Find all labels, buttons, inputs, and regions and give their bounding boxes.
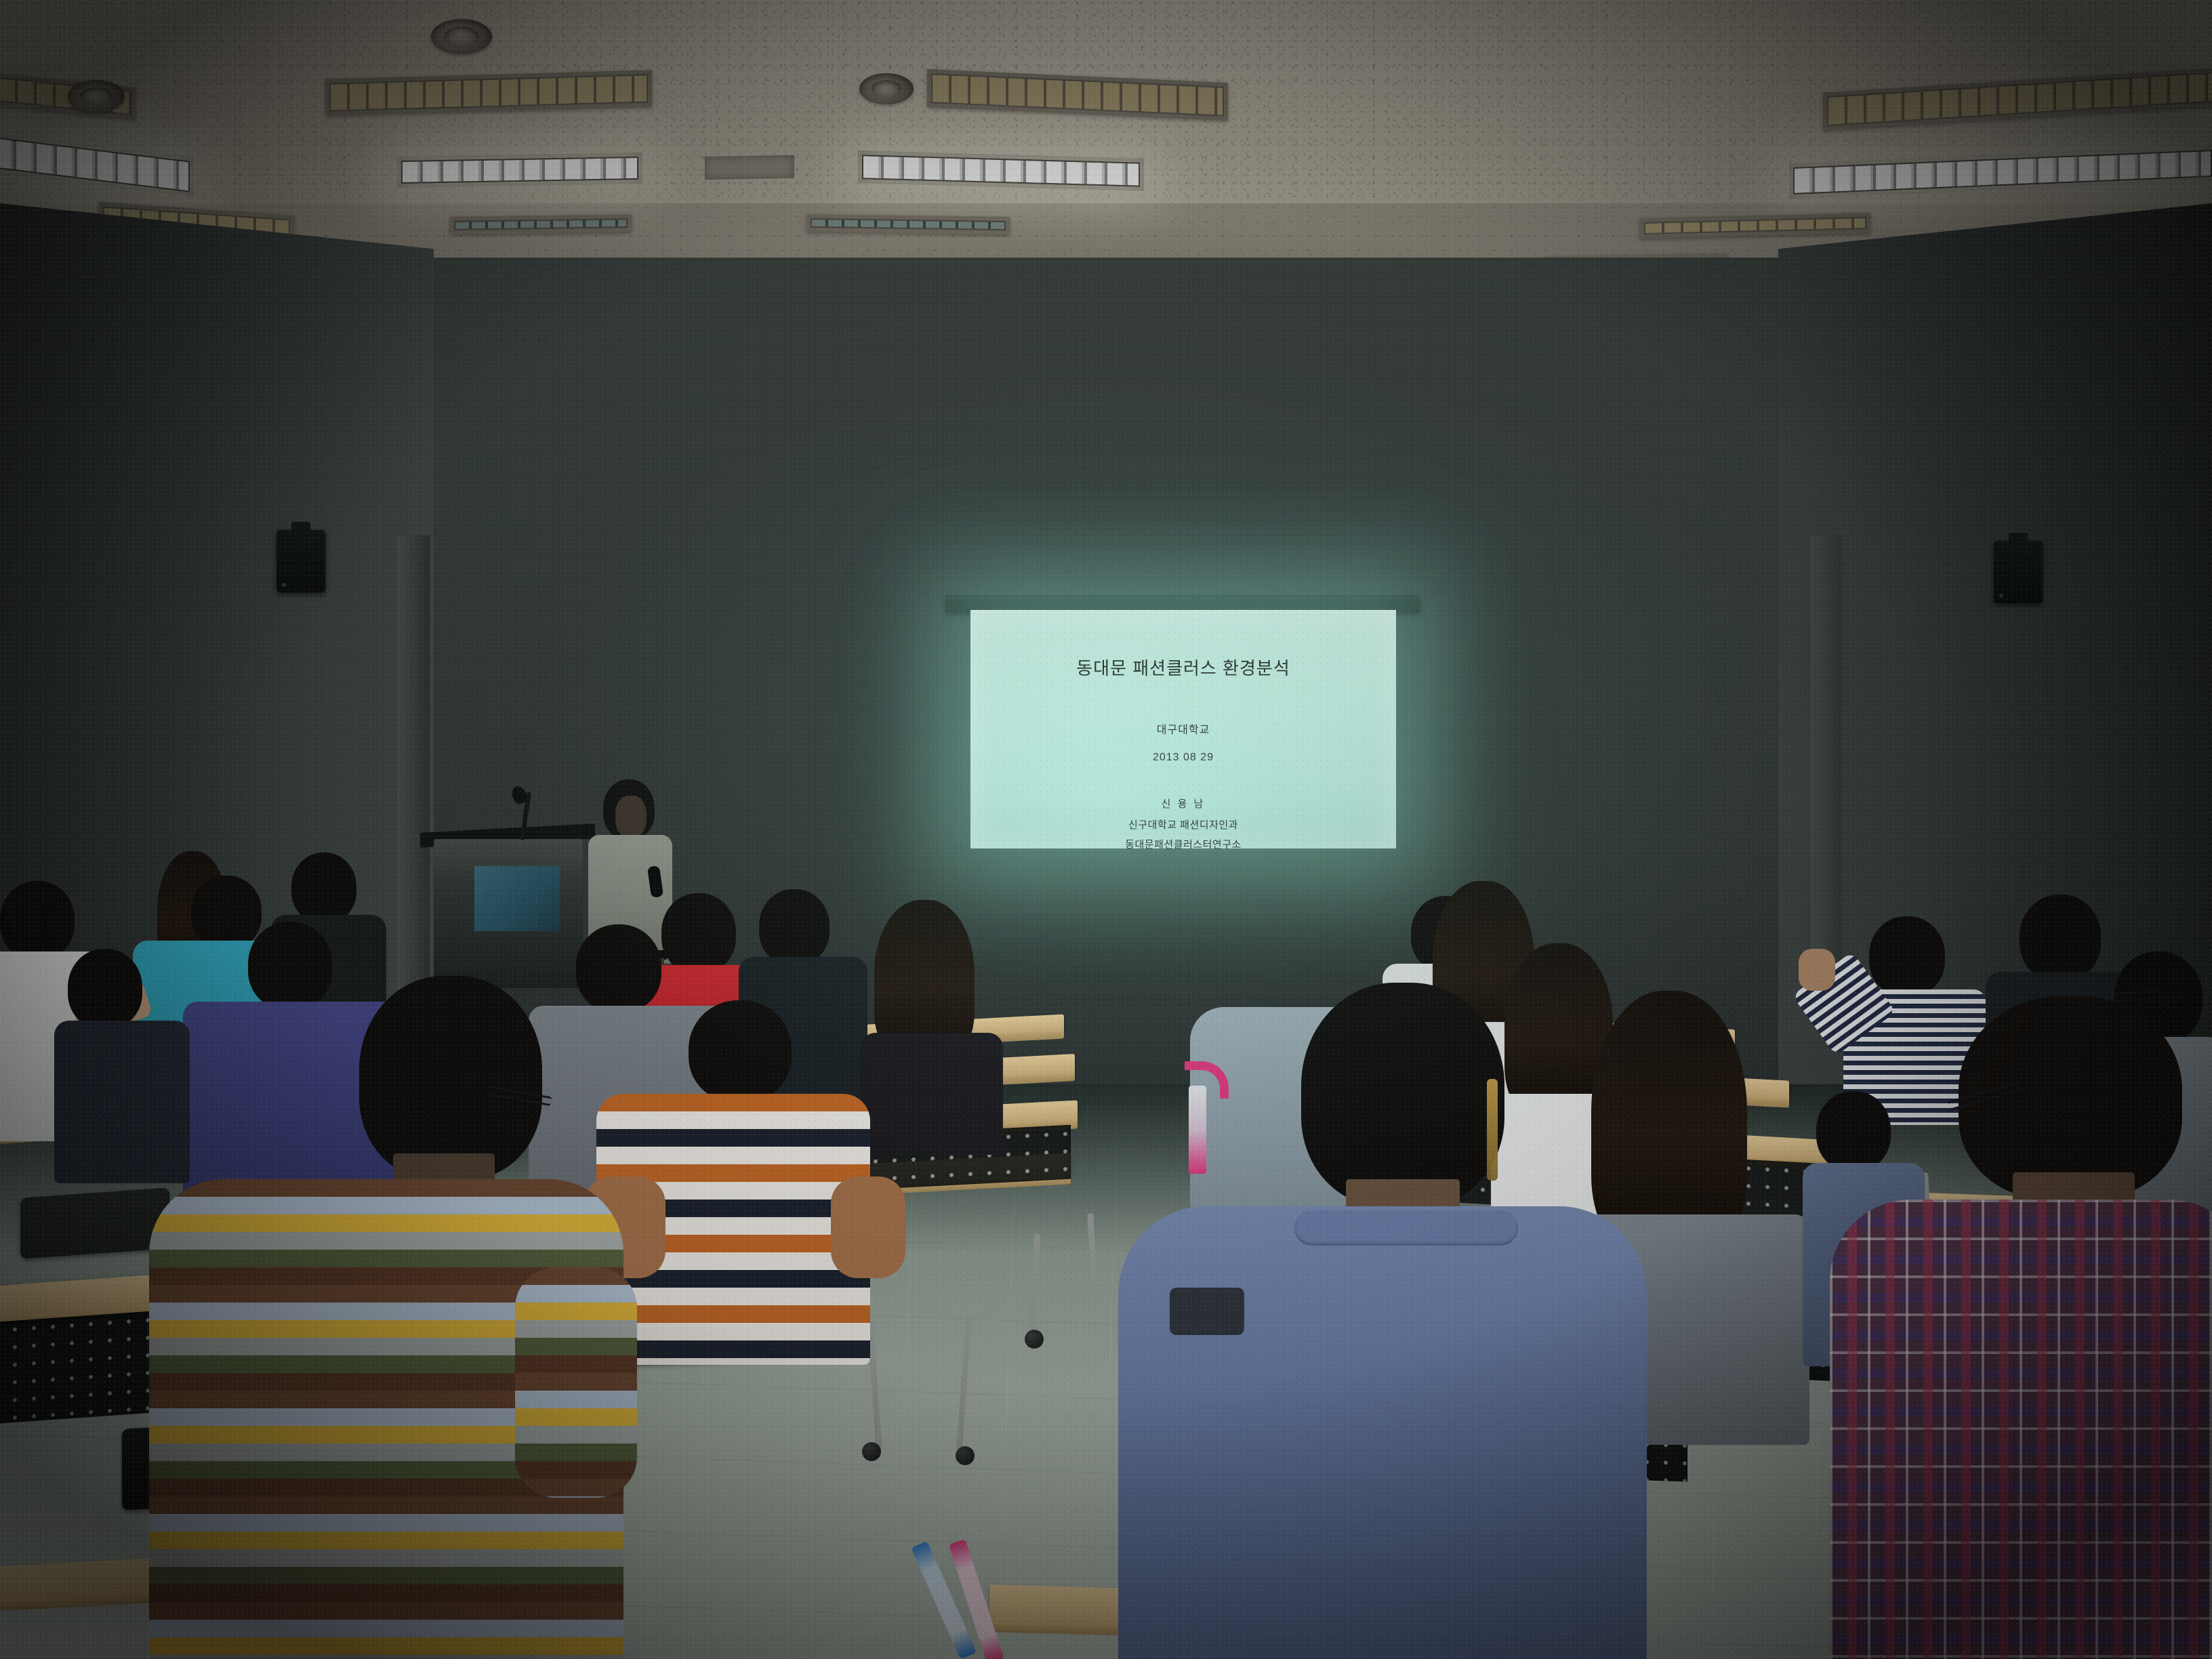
wall-pillar-left (397, 535, 430, 1023)
wall-speaker-right (1994, 541, 2043, 603)
slide-title: 동대문 패션클러스 환경분석 (1076, 655, 1290, 680)
polo-collar (1294, 1210, 1518, 1246)
ceiling-vent-center (431, 19, 492, 54)
bag-strap-right (1487, 1079, 1498, 1181)
desk-caster-1 (956, 1446, 975, 1465)
wall-speaker-left (276, 530, 325, 592)
desk-caster-3 (1025, 1330, 1044, 1349)
speaker-led-icon (282, 583, 286, 587)
troffer-center-3 (450, 214, 632, 234)
slide-organization: 대구대학교 (1157, 720, 1210, 737)
raised-hand (1799, 949, 1835, 991)
slide-presenter-name: 신 용 남 (1162, 796, 1206, 811)
slide-affiliation-line1: 신구대학교 패션디자인과 (1128, 817, 1238, 832)
chair-far-left (20, 1187, 169, 1258)
wall-pillar-right (1811, 535, 1842, 1010)
lecture-hall-scene: 동대문 패션클러스 환경분석 대구대학교 2013 08 29 신 용 남 신구… (0, 0, 2212, 1659)
troffer-center-2 (397, 152, 642, 188)
speaker-led-icon (1999, 594, 2003, 598)
ceiling-access-panel-right (705, 155, 794, 180)
umbrella-hanging (1189, 1086, 1206, 1174)
presenter-face (615, 796, 647, 838)
slide-affiliation-line2: 동대문패션클러스터연구소 (1125, 837, 1242, 851)
lectern-monitor (474, 866, 560, 931)
bag-on-floor-center (1170, 1288, 1244, 1335)
desk-caster-2 (862, 1442, 881, 1461)
troffer-right-3 (806, 214, 1010, 234)
ceiling-vent-right (859, 73, 914, 104)
slide-date: 2013 08 29 (1153, 752, 1214, 764)
projection-screen: 동대문 패션클러스 환경분석 대구대학교 2013 08 29 신 용 남 신구… (970, 610, 1396, 848)
ceiling-vent-left (68, 80, 125, 112)
